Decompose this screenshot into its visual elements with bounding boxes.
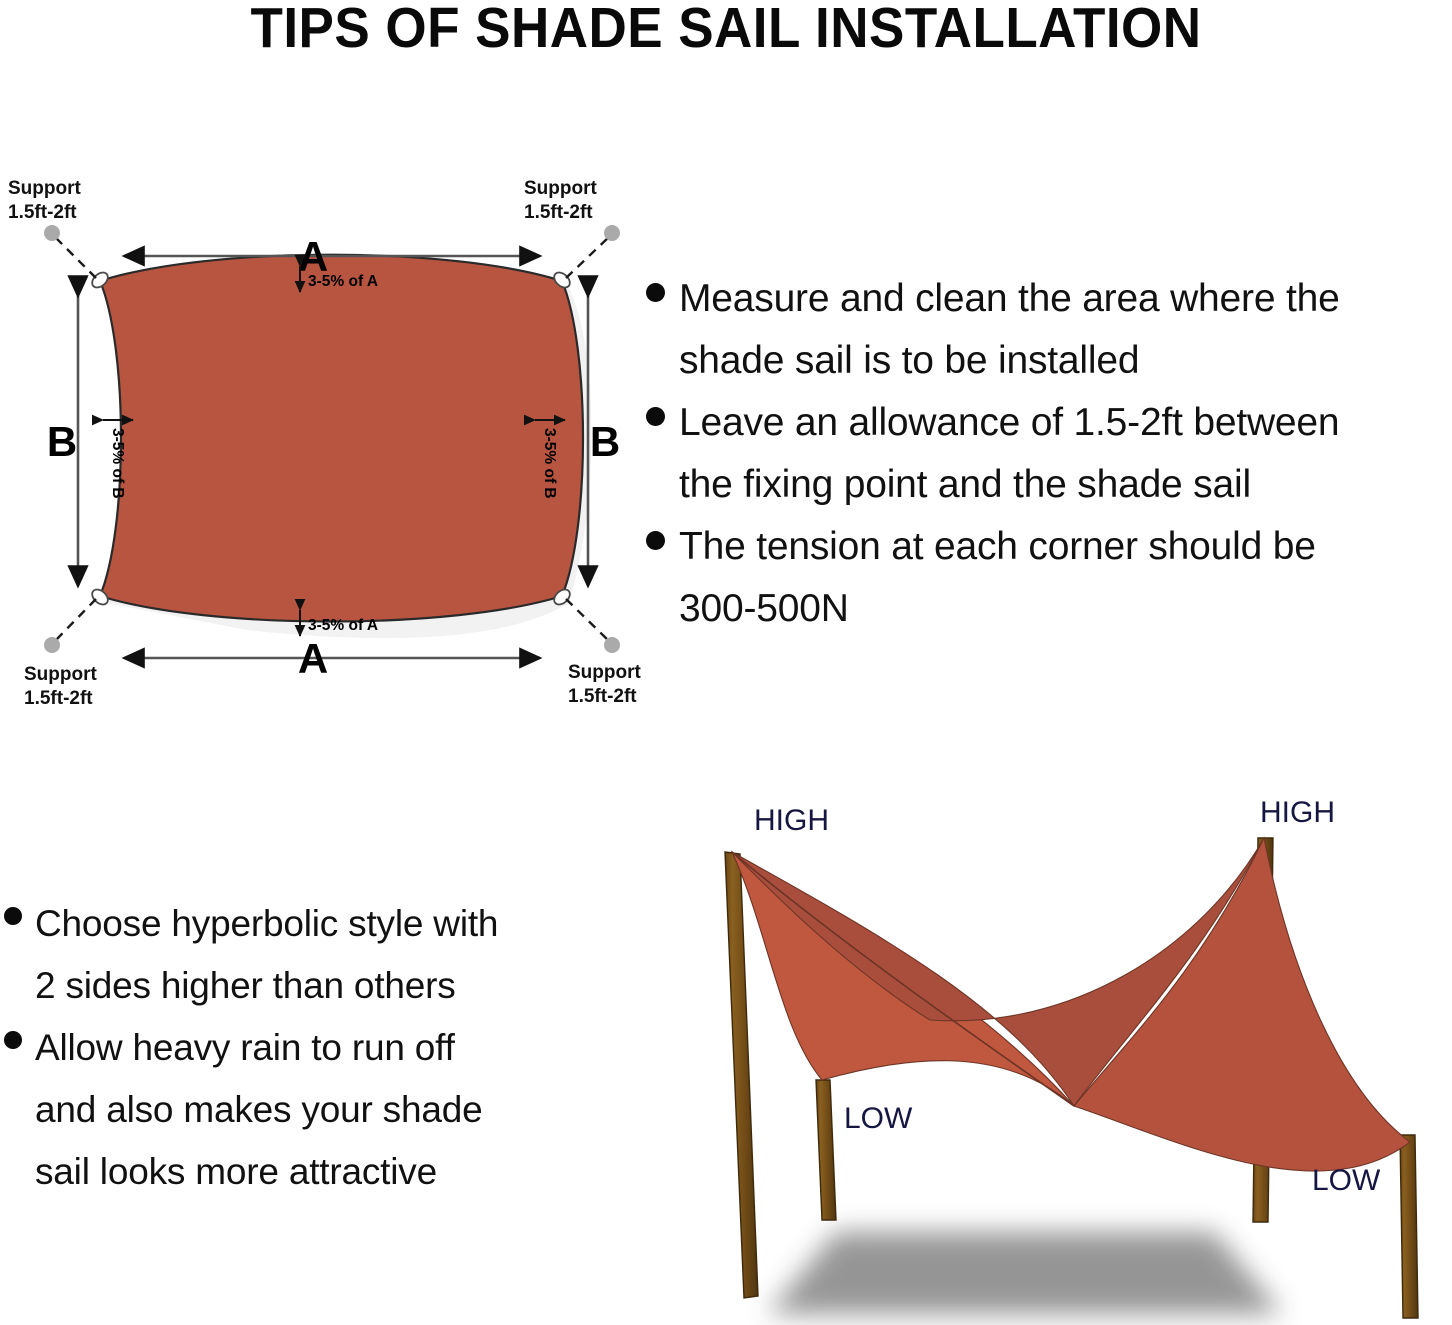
style-item-1-line-2: 2 sides higher than others xyxy=(35,955,498,1017)
tip-item-2-line-2: the fixing point and the shade sail xyxy=(679,454,1339,516)
tip-item-1: Measure and clean the area where the sha… xyxy=(646,268,1452,392)
support-label-bottom-left-line1: Support xyxy=(24,664,97,685)
dim-label-b-left: B xyxy=(47,418,77,465)
tip-item-3-line-2: 300-500N xyxy=(679,578,1316,640)
dim-label-curve-a-top: 3-5% of A xyxy=(308,273,378,290)
style-item-2-line-2: and also makes your shade xyxy=(35,1079,483,1141)
label-low-left: LOW xyxy=(844,1102,913,1135)
tip-item-3-line-1: The tension at each corner should be xyxy=(679,516,1316,578)
anchor-dot-top-left xyxy=(44,225,60,241)
support-line-top-right xyxy=(566,236,610,278)
style-item-2: Allow heavy rain to run off and also mak… xyxy=(4,1017,634,1203)
anchor-dot-bottom-right xyxy=(604,637,620,653)
post-low-left xyxy=(816,1080,836,1220)
installation-tips-list: Measure and clean the area where the sha… xyxy=(646,268,1452,640)
support-label-top-right-line1: Support xyxy=(524,178,597,199)
style-tips-list: Choose hyperbolic style with 2 sides hig… xyxy=(4,893,634,1203)
anchor-dot-bottom-left xyxy=(44,637,60,653)
label-low-right: LOW xyxy=(1312,1164,1381,1197)
label-high-right: HIGH xyxy=(1260,796,1335,829)
bullet-dot-icon xyxy=(646,407,665,426)
dim-label-curve-b-left: 3-5% of B xyxy=(109,428,126,499)
support-label-top-left-line2: 1.5ft-2ft xyxy=(8,202,77,223)
style-item-2-line-1: Allow heavy rain to run off xyxy=(35,1017,483,1079)
tip-item-1-line-2: shade sail is to be installed xyxy=(679,330,1340,392)
tip-item-1-line-1: Measure and clean the area where the xyxy=(679,268,1340,330)
support-line-bottom-right xyxy=(566,599,610,642)
tip-item-2: Leave an allowance of 1.5-2ft between th… xyxy=(646,392,1452,516)
style-item-1: Choose hyperbolic style with 2 sides hig… xyxy=(4,893,634,1017)
tip-item-3: The tension at each corner should be 300… xyxy=(646,516,1452,640)
bullet-dot-icon xyxy=(646,531,665,550)
bullet-dot-icon xyxy=(646,283,665,302)
ground-shadow xyxy=(768,1232,1282,1314)
dim-label-b-right: B xyxy=(590,418,620,465)
anchor-dot-top-right xyxy=(604,225,620,241)
hyperbolic-sail-illustration: HIGH HIGH LOW LOW xyxy=(640,790,1452,1325)
dim-label-curve-b-right: 3-5% of B xyxy=(541,428,558,499)
tip-item-2-line-1: Leave an allowance of 1.5-2ft between xyxy=(679,392,1339,454)
label-high-left: HIGH xyxy=(754,804,829,837)
support-line-bottom-left xyxy=(54,599,96,642)
dim-label-curve-a-bottom: 3-5% of A xyxy=(308,617,378,634)
support-label-top-right-line2: 1.5ft-2ft xyxy=(524,202,593,223)
bullet-dot-icon xyxy=(4,1031,22,1049)
bullet-dot-icon xyxy=(4,907,22,925)
support-label-bottom-right-line2: 1.5ft-2ft xyxy=(568,686,637,707)
style-item-2-line-3: sail looks more attractive xyxy=(35,1141,483,1203)
support-label-bottom-right-line1: Support xyxy=(568,662,641,683)
rect-sail-diagram: Support 1.5ft-2ft Support 1.5ft-2ft Supp… xyxy=(0,168,660,730)
dim-label-a-bottom: A xyxy=(298,635,328,682)
support-label-top-left-line1: Support xyxy=(8,178,81,199)
support-line-top-left xyxy=(54,236,96,278)
post-high-left xyxy=(725,852,758,1298)
sail-shape xyxy=(100,255,583,622)
style-item-1-line-1: Choose hyperbolic style with xyxy=(35,893,498,955)
page-title: TIPS OF SHADE SAIL INSTALLATION xyxy=(51,0,1401,60)
post-low-right xyxy=(1400,1135,1418,1318)
support-label-bottom-left-line2: 1.5ft-2ft xyxy=(24,688,93,709)
